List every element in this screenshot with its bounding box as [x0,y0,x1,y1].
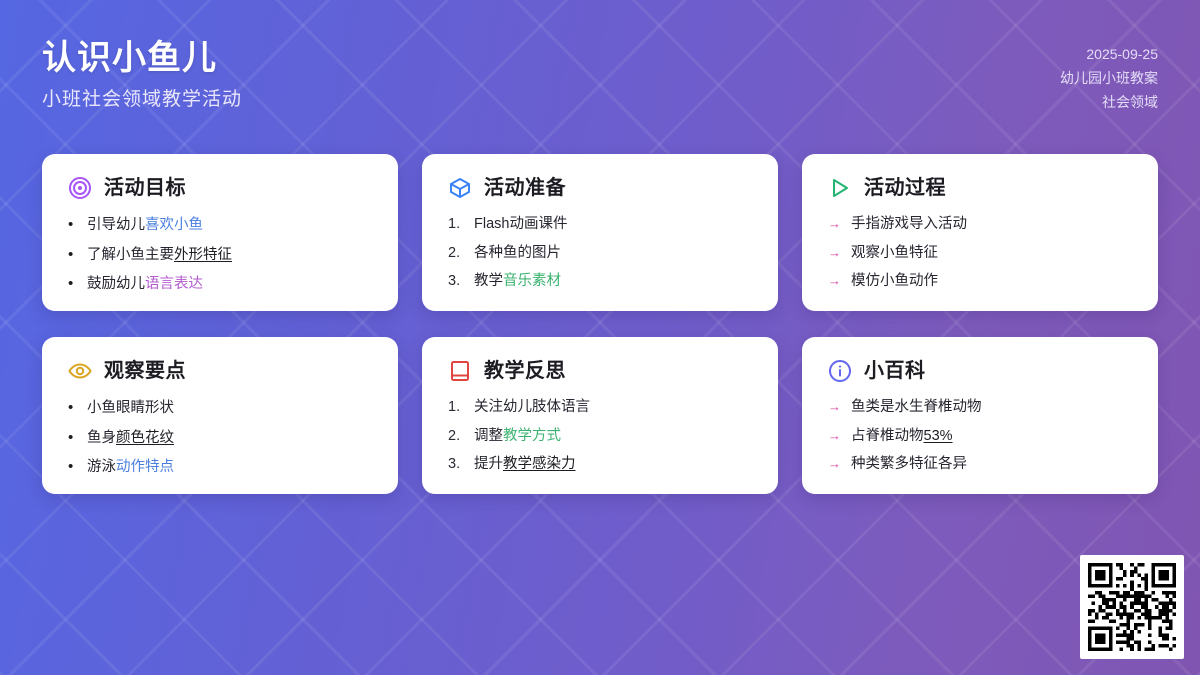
text-segment: 鱼类是水生脊椎动物 [851,399,982,415]
list-item-text: 了解小鱼主要外形特征 [87,246,232,266]
card-title: 活动过程 [864,178,946,198]
card-encyclopedia[interactable]: 小百科→鱼类是水生脊椎动物→占脊椎动物53%→种类繁多特征各异 [802,337,1158,494]
meta-domain: 社会领域 [1060,90,1158,114]
arrow-icon: → [828,272,842,290]
list-item: →鱼类是水生脊椎动物 [828,398,1132,418]
list-item: •小鱼眼睛形状 [68,398,372,419]
list-item: •鱼身颜色花纹 [68,428,372,449]
list-item-text: Flash动画课件 [474,215,567,235]
page-subtitle: 小班社会领域教学活动 [42,89,242,112]
highlight-segment: 教学方式 [503,428,561,444]
text-segment: 小鱼眼睛形状 [87,400,174,416]
title-block: 认识小鱼儿 小班社会领域教学活动 [42,38,242,112]
list-item: →种类繁多特征各异 [828,455,1132,475]
list-item: 2.调整教学方式 [448,427,752,447]
list-item-text: 引导幼儿喜欢小鱼 [87,216,203,236]
slide-root: 认识小鱼儿 小班社会领域教学活动 2025-09-25 幼儿园小班教案 社会领域… [0,0,1200,675]
card-title: 观察要点 [104,361,186,381]
card-title: 教学反思 [484,361,566,381]
text-segment: 手指游戏导入活动 [851,216,967,232]
card-item-list: →鱼类是水生脊椎动物→占脊椎动物53%→种类繁多特征各异 [828,398,1132,475]
text-segment: 关注幼儿肢体语言 [474,399,590,415]
card-observation-points[interactable]: 观察要点•小鱼眼睛形状•鱼身颜色花纹•游泳动作特点 [42,337,398,494]
card-activity-preparation[interactable]: 活动准备1.Flash动画课件2.各种鱼的图片3.教学音乐素材 [422,154,778,311]
highlight-segment: 动作特点 [116,459,174,475]
list-item-text: 模仿小鱼动作 [851,272,938,292]
list-item: →观察小鱼特征 [828,244,1132,264]
card-title: 活动目标 [104,178,186,198]
list-marker-number: 3. [448,272,465,292]
list-item: •了解小鱼主要外形特征 [68,245,372,266]
list-item: •引导幼儿喜欢小鱼 [68,215,372,236]
card-header: 活动准备 [448,176,752,200]
list-marker-number: 2. [448,427,465,447]
list-item-text: 种类繁多特征各异 [851,455,967,475]
list-item-text: 手指游戏导入活动 [851,215,967,235]
qr-code-image [1088,563,1176,651]
arrow-icon: → [828,398,842,416]
text-segment: 了解小鱼主要 [87,247,174,263]
list-item: →模仿小鱼动作 [828,272,1132,292]
list-item-text: 鱼类是水生脊椎动物 [851,398,982,418]
slide-header: 认识小鱼儿 小班社会领域教学活动 2025-09-25 幼儿园小班教案 社会领域 [0,0,1200,140]
highlight-segment: 音乐素材 [503,273,561,289]
arrow-icon: → [828,455,842,473]
list-marker-bullet: • [68,457,78,477]
text-segment: 各种鱼的图片 [474,245,561,261]
book-icon [448,359,472,383]
meta-date: 2025-09-25 [1060,42,1158,66]
card-header: 活动目标 [68,176,372,200]
highlight-segment: 颜色花纹 [116,430,174,446]
list-marker-bullet: • [68,274,78,294]
highlight-segment: 外形特征 [174,247,232,263]
list-item: •游泳动作特点 [68,457,372,478]
list-item: 2.各种鱼的图片 [448,244,752,264]
list-item: 1.关注幼儿肢体语言 [448,398,752,418]
arrow-icon: → [828,215,842,233]
card-header: 活动过程 [828,176,1132,200]
card-header: 小百科 [828,359,1132,383]
list-item-text: 占脊椎动物53% [851,427,953,447]
header-meta: 2025-09-25 幼儿园小班教案 社会领域 [1060,42,1158,114]
text-segment: 鼓励幼儿 [87,276,145,292]
box-icon [448,176,472,200]
list-item-text: 提升教学感染力 [474,455,576,475]
list-item-text: 调整教学方式 [474,427,561,447]
qr-code[interactable] [1080,555,1184,659]
list-marker-bullet: • [68,215,78,235]
highlight-segment: 53% [924,428,953,444]
list-item-text: 各种鱼的图片 [474,244,561,264]
list-marker-bullet: • [68,428,78,448]
text-segment: Flash动画课件 [474,216,567,232]
text-segment: 引导幼儿 [87,217,145,233]
card-header: 观察要点 [68,359,372,383]
eye-icon [68,359,92,383]
list-item-text: 教学音乐素材 [474,272,561,292]
text-segment: 模仿小鱼动作 [851,273,938,289]
card-activity-goals[interactable]: 活动目标•引导幼儿喜欢小鱼•了解小鱼主要外形特征•鼓励幼儿语言表达 [42,154,398,311]
list-item-text: 小鱼眼睛形状 [87,399,174,419]
meta-category: 幼儿园小班教案 [1060,66,1158,90]
card-item-list: •引导幼儿喜欢小鱼•了解小鱼主要外形特征•鼓励幼儿语言表达 [68,215,372,295]
list-marker-bullet: • [68,245,78,265]
list-item-text: 鱼身颜色花纹 [87,429,174,449]
card-teaching-reflection[interactable]: 教学反思1.关注幼儿肢体语言2.调整教学方式3.提升教学感染力 [422,337,778,494]
list-marker-number: 3. [448,455,465,475]
info-icon [828,359,852,383]
card-item-list: 1.Flash动画课件2.各种鱼的图片3.教学音乐素材 [448,215,752,292]
text-segment: 鱼身 [87,430,116,446]
list-marker-bullet: • [68,398,78,418]
list-item: →手指游戏导入活动 [828,215,1132,235]
text-segment: 游泳 [87,459,116,475]
card-item-list: 1.关注幼儿肢体语言2.调整教学方式3.提升教学感染力 [448,398,752,475]
arrow-icon: → [828,427,842,445]
list-item: 1.Flash动画课件 [448,215,752,235]
list-item-text: 关注幼儿肢体语言 [474,398,590,418]
list-marker-number: 2. [448,244,465,264]
list-item: 3.教学音乐素材 [448,272,752,292]
page-title: 认识小鱼儿 [42,38,242,79]
list-marker-number: 1. [448,398,465,418]
list-item: →占脊椎动物53% [828,427,1132,447]
text-segment: 占脊椎动物 [851,428,924,444]
list-item: 3.提升教学感染力 [448,455,752,475]
card-item-list: •小鱼眼睛形状•鱼身颜色花纹•游泳动作特点 [68,398,372,478]
card-title: 小百科 [864,361,926,381]
text-segment: 种类繁多特征各异 [851,456,967,472]
highlight-segment: 喜欢小鱼 [145,217,203,233]
card-title: 活动准备 [484,178,566,198]
card-header: 教学反思 [448,359,752,383]
text-segment: 提升 [474,456,503,472]
text-segment: 观察小鱼特征 [851,245,938,261]
text-segment: 调整 [474,428,503,444]
text-segment: 教学 [474,273,503,289]
highlight-segment: 教学感染力 [503,456,576,472]
card-activity-process[interactable]: 活动过程→手指游戏导入活动→观察小鱼特征→模仿小鱼动作 [802,154,1158,311]
highlight-segment: 语言表达 [145,276,203,292]
list-item-text: 观察小鱼特征 [851,244,938,264]
play-icon [828,176,852,200]
target-icon [68,176,92,200]
list-marker-number: 1. [448,215,465,235]
card-item-list: →手指游戏导入活动→观察小鱼特征→模仿小鱼动作 [828,215,1132,292]
card-grid: 活动目标•引导幼儿喜欢小鱼•了解小鱼主要外形特征•鼓励幼儿语言表达活动准备1.F… [42,154,1158,494]
arrow-icon: → [828,244,842,262]
list-item-text: 游泳动作特点 [87,458,174,478]
list-item: •鼓励幼儿语言表达 [68,274,372,295]
list-item-text: 鼓励幼儿语言表达 [87,275,203,295]
